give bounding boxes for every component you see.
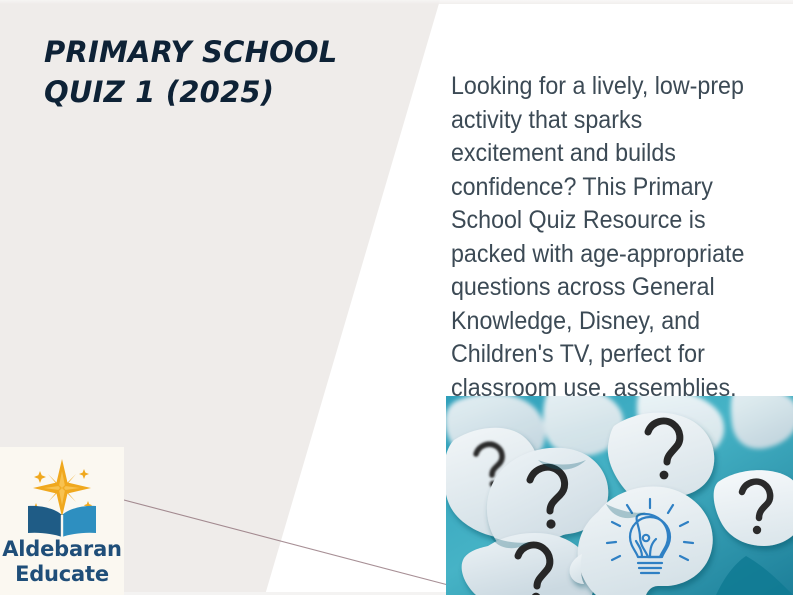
logo-wordmark-line1: Aldebaran <box>2 537 122 561</box>
logo-card: Aldebaran Educate <box>0 447 124 595</box>
hero-photo <box>446 396 793 595</box>
page-title: PRIMARY SCHOOL QUIZ 1 (2025) <box>44 32 394 112</box>
star-book-logo-icon <box>14 455 110 537</box>
slide-canvas: PRIMARY SCHOOL QUIZ 1 (2025) Looking for… <box>0 0 793 595</box>
slide-top-edge-strip <box>0 0 793 4</box>
hero-photo-illustration <box>446 396 793 595</box>
description-paragraph: Looking for a lively, low-prep activity … <box>451 70 754 439</box>
logo-wordmark: Aldebaran Educate <box>0 537 124 587</box>
logo-wordmark-line2: Educate <box>0 562 124 587</box>
